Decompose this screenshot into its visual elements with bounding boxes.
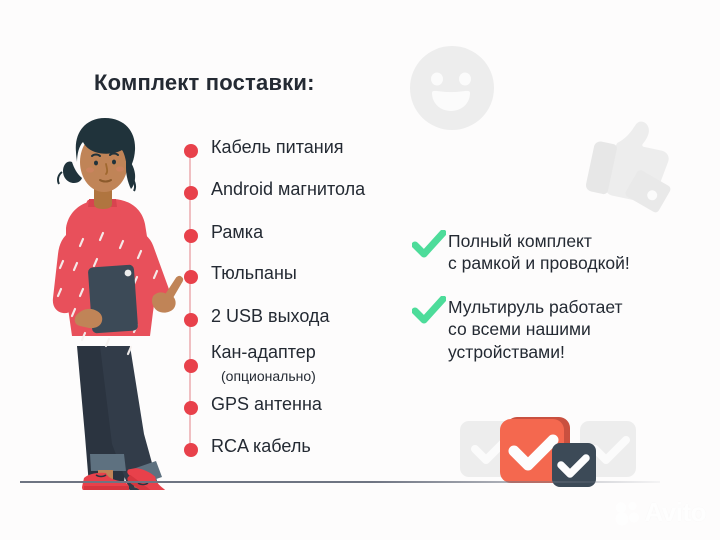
- smiley-face-icon: [402, 38, 502, 138]
- avito-logo-icon: [614, 500, 640, 526]
- bullet-dot: [184, 359, 198, 373]
- list-item-label: Кан-адаптер: [211, 343, 316, 363]
- list-item-label: Android магнитола: [211, 180, 365, 200]
- list-item-label: RCA кабель: [211, 437, 311, 457]
- benefit-line: с рамкой и проводкой!: [448, 252, 630, 274]
- green-check-icon: [412, 296, 446, 326]
- ground-line: [20, 481, 660, 483]
- list-item-sublabel: (опционально): [221, 368, 316, 384]
- benefit-text: Полный комплект с рамкой и проводкой!: [448, 230, 630, 275]
- list-item-label: GPS антенна: [211, 395, 322, 415]
- list-item-label: Кабель питания: [211, 138, 344, 158]
- bullet-dot: [184, 401, 198, 415]
- page-title: Комплект поставки:: [94, 70, 315, 96]
- benefit-line: Полный комплект: [448, 230, 630, 252]
- list-item-label: 2 USB выхода: [211, 307, 329, 327]
- green-check-icon: [412, 230, 446, 260]
- bullet-dot: [184, 313, 198, 327]
- bullet-dot: [184, 186, 198, 200]
- bullet-dot: [184, 229, 198, 243]
- checkbox-cluster-icon: [458, 405, 638, 500]
- thumbs-up-icon: [572, 112, 688, 218]
- woman-pointing-illustration: [14, 118, 184, 490]
- avito-watermark-text: Avito: [644, 497, 706, 528]
- bullet-dot: [184, 144, 198, 158]
- list-item-label: Тюльпаны: [211, 264, 297, 284]
- benefit-line: со всеми нашими: [448, 318, 623, 340]
- bullet-dot: [184, 443, 198, 457]
- avito-watermark: Avito: [614, 497, 706, 528]
- promo-image: Комплект поставки: Кабель питания Androi…: [0, 0, 720, 540]
- benefit-line: Мультируль работает: [448, 296, 623, 318]
- benefit-line: устройствами!: [448, 341, 623, 363]
- bullet-dot: [184, 270, 198, 284]
- benefit-text: Мультируль работает со всеми нашими устр…: [448, 296, 623, 363]
- list-item-label: Рамка: [211, 223, 263, 243]
